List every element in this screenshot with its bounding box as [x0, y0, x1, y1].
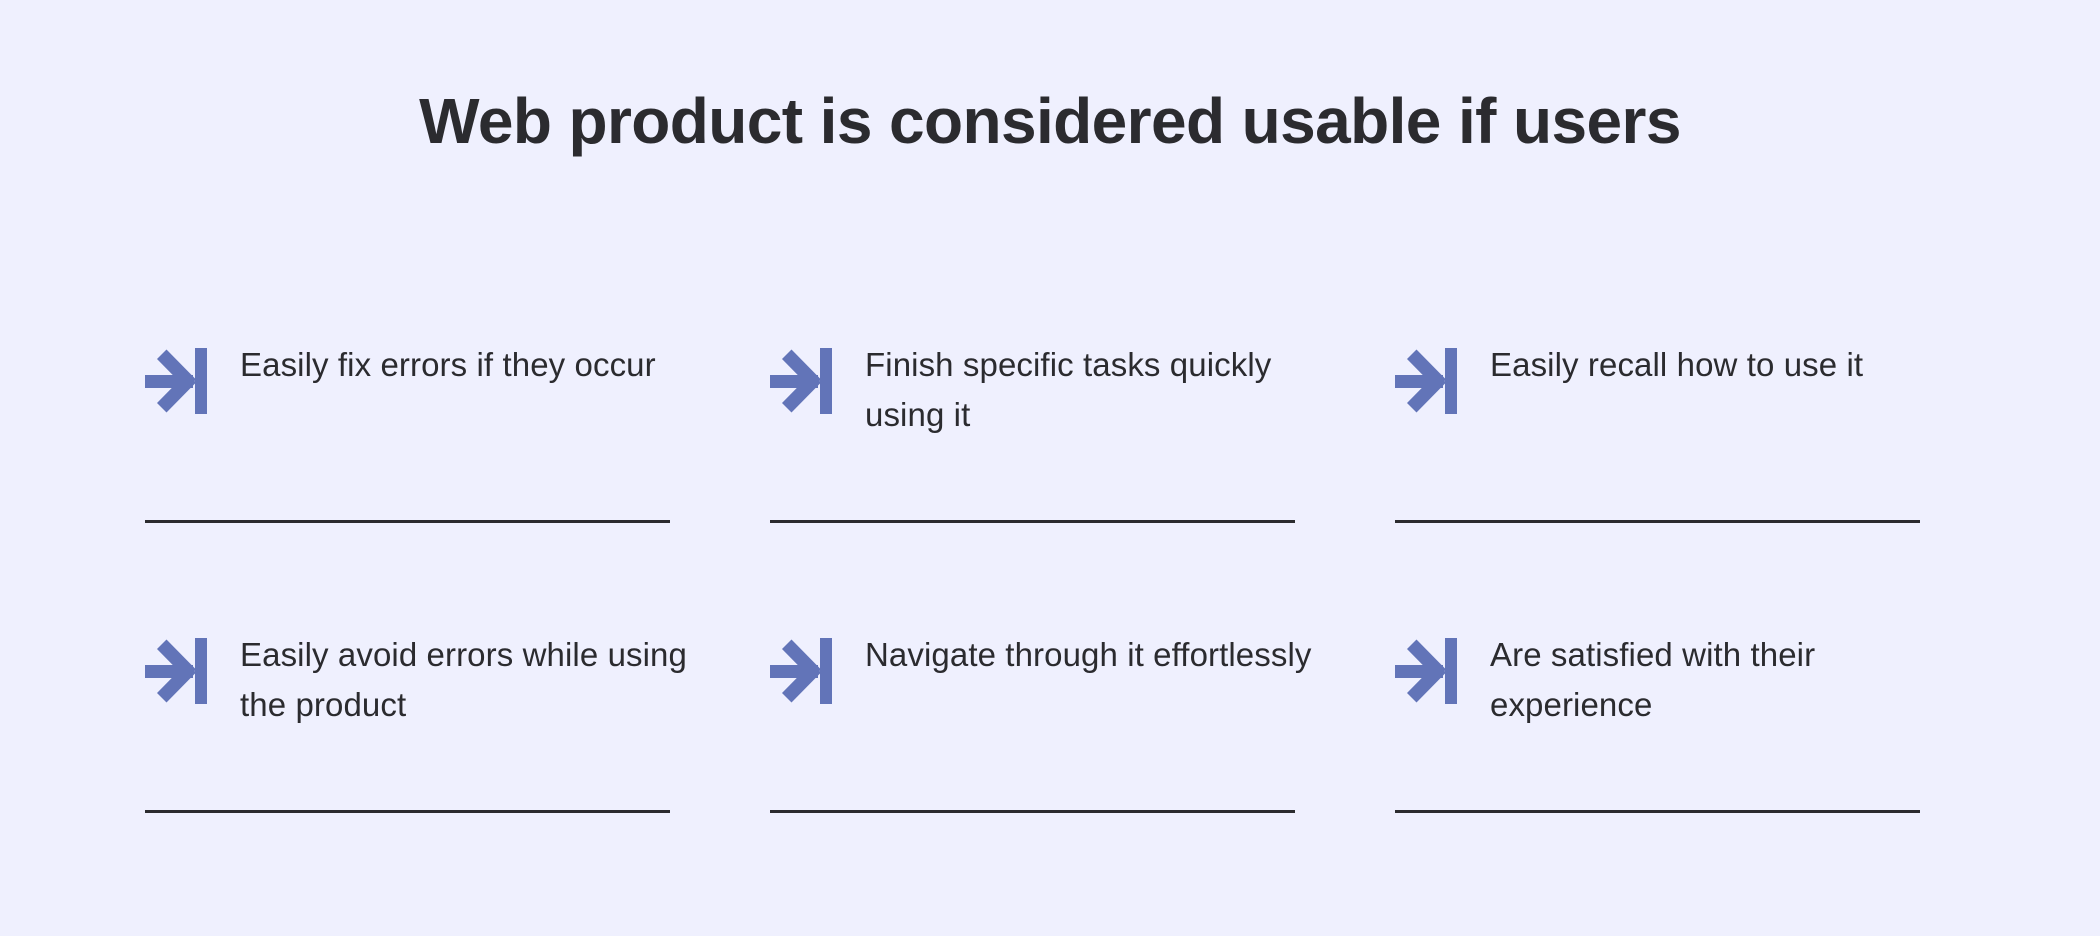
criteria-item-label: Are satisfied with their experience	[1490, 630, 1945, 730]
criteria-item-body: Finish specific tasks quickly using it	[770, 340, 1330, 440]
page-title: Web product is considered usable if user…	[0, 82, 2100, 160]
criteria-item-divider	[770, 810, 1295, 813]
criteria-item-divider	[145, 520, 670, 523]
criteria-item: Easily fix errors if they occur	[145, 340, 705, 630]
criteria-item-label: Easily avoid errors while using the prod…	[240, 630, 695, 730]
criteria-item: Easily recall how to use it	[1395, 340, 1955, 630]
criteria-item-divider	[145, 810, 670, 813]
arrow-right-to-line-icon	[1395, 348, 1457, 414]
criteria-item-body: Are satisfied with their experience	[1395, 630, 1955, 730]
criteria-item-divider	[1395, 810, 1920, 813]
criteria-item: Easily avoid errors while using the prod…	[145, 630, 705, 920]
criteria-item: Navigate through it effortlessly	[770, 630, 1330, 920]
criteria-item-body: Easily recall how to use it	[1395, 340, 1955, 414]
criteria-item-body: Easily fix errors if they occur	[145, 340, 705, 414]
criteria-item-divider	[770, 520, 1295, 523]
criteria-item-label: Navigate through it effortlessly	[865, 630, 1312, 680]
arrow-right-to-line-icon	[1395, 638, 1457, 704]
criteria-item: Are satisfied with their experience	[1395, 630, 1955, 920]
usability-criteria-grid: Easily fix errors if they occur Finish s…	[145, 340, 1955, 920]
criteria-item-body: Easily avoid errors while using the prod…	[145, 630, 705, 730]
arrow-right-to-line-icon	[145, 638, 207, 704]
criteria-item-body: Navigate through it effortlessly	[770, 630, 1330, 704]
arrow-right-to-line-icon	[145, 348, 207, 414]
criteria-item-label: Easily fix errors if they occur	[240, 340, 656, 390]
arrow-right-to-line-icon	[770, 638, 832, 704]
criteria-item-label: Finish specific tasks quickly using it	[865, 340, 1320, 440]
infographic-page: Web product is considered usable if user…	[0, 0, 2100, 936]
criteria-item-label: Easily recall how to use it	[1490, 340, 1863, 390]
criteria-item-divider	[1395, 520, 1920, 523]
criteria-item: Finish specific tasks quickly using it	[770, 340, 1330, 630]
arrow-right-to-line-icon	[770, 348, 832, 414]
